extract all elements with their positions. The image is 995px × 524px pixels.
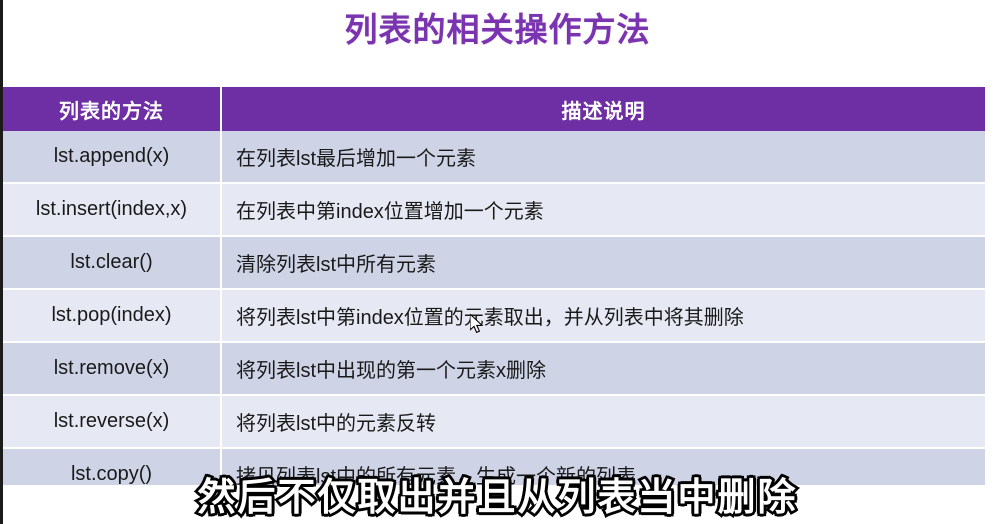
cell-description: 将列表lst中出现的第一个元素x删除	[222, 343, 985, 396]
methods-table: 列表的方法 描述说明 lst.append(x) 在列表lst最后增加一个元素 …	[3, 87, 985, 485]
cell-method: lst.clear()	[3, 237, 222, 290]
table-row: lst.pop(index) 将列表lst中第index位置的元素取出，并从列表…	[3, 290, 985, 343]
column-header-description: 描述说明	[222, 87, 985, 131]
cell-description: 在列表中第index位置增加一个元素	[222, 184, 985, 237]
table-row: lst.insert(index,x) 在列表中第index位置增加一个元素	[3, 184, 985, 237]
table-row: lst.append(x) 在列表lst最后增加一个元素	[3, 131, 985, 184]
cell-description: 将列表lst中的元素反转	[222, 396, 985, 449]
table-row: lst.remove(x) 将列表lst中出现的第一个元素x删除	[3, 343, 985, 396]
methods-table-body: lst.append(x) 在列表lst最后增加一个元素 lst.insert(…	[3, 131, 985, 485]
video-caption: 然后不仅取出并且从列表当中删除	[0, 476, 995, 520]
table-row: lst.reverse(x) 将列表lst中的元素反转	[3, 396, 985, 449]
cell-description: 将列表lst中第index位置的元素取出，并从列表中将其删除	[222, 290, 985, 343]
table-row: lst.clear() 清除列表lst中所有元素	[3, 237, 985, 290]
methods-table-container: 列表的方法 描述说明 lst.append(x) 在列表lst最后增加一个元素 …	[3, 87, 985, 485]
cell-method: lst.append(x)	[3, 131, 222, 184]
frame-edge-strip	[0, 0, 3, 524]
slide-canvas: 列表的相关操作方法 列表的方法 描述说明 lst.append(x) 在列表ls…	[0, 0, 995, 524]
cell-description: 在列表lst最后增加一个元素	[222, 131, 985, 184]
table-header-row: 列表的方法 描述说明	[3, 87, 985, 131]
column-header-method: 列表的方法	[3, 87, 222, 131]
cell-method: lst.pop(index)	[3, 290, 222, 343]
cell-method: lst.remove(x)	[3, 343, 222, 396]
cell-method: lst.insert(index,x)	[3, 184, 222, 237]
cell-method: lst.reverse(x)	[3, 396, 222, 449]
page-title: 列表的相关操作方法	[0, 8, 995, 52]
cell-description: 清除列表lst中所有元素	[222, 237, 985, 290]
